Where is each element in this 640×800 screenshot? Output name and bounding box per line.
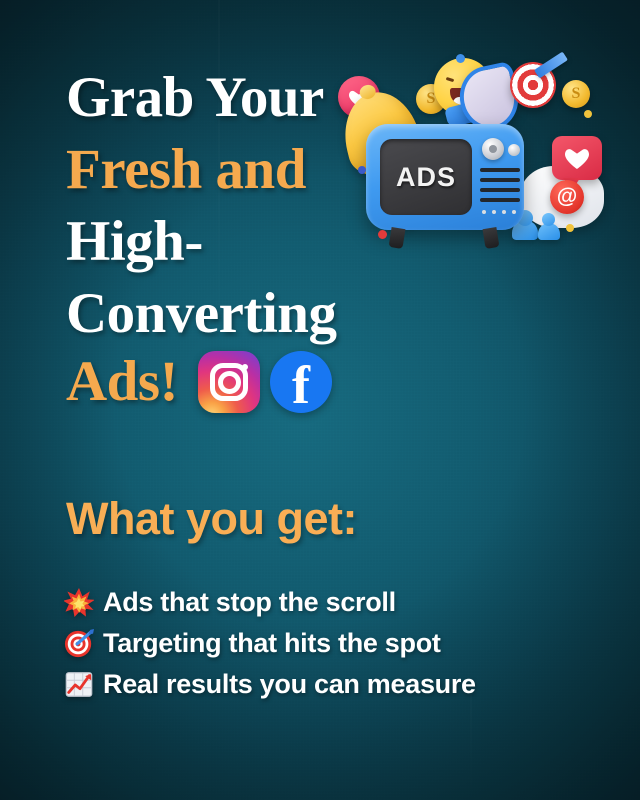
benefit-label: Ads that stop the scroll xyxy=(103,587,396,618)
confetti-dot xyxy=(456,54,465,63)
email-at-icon: @ xyxy=(550,180,584,214)
tv-ads-label: ADS xyxy=(396,162,456,193)
chart-increasing-icon xyxy=(64,669,94,699)
tv-indicator-dot xyxy=(482,210,486,214)
tv-small-knob-icon xyxy=(508,144,520,156)
subhead-what-you-get: What you get: xyxy=(66,493,357,545)
benefit-label: Real results you can measure xyxy=(103,669,476,700)
coin-symbol: S xyxy=(562,80,590,108)
confetti-dot xyxy=(566,224,574,232)
tv-leg xyxy=(483,227,500,249)
tv-indicator-dot xyxy=(492,210,496,214)
texture-streak xyxy=(470,690,472,800)
collision-burst-icon xyxy=(64,587,94,617)
tv-indicator-dot xyxy=(512,210,516,214)
tv-grille-line xyxy=(480,198,520,202)
benefit-item: Real results you can measure xyxy=(64,665,476,703)
tv-indicator-dot xyxy=(502,210,506,214)
headline-line-3: High- xyxy=(66,206,396,278)
headline-line-5: Ads! xyxy=(66,350,178,414)
benefit-item: Ads that stop the scroll xyxy=(64,583,476,621)
tv-gear-knob-icon xyxy=(482,138,504,160)
headline-line-4: Converting xyxy=(66,278,396,350)
facebook-icon[interactable]: f xyxy=(270,351,332,413)
heart-speech-bubble-icon xyxy=(552,136,602,180)
tv-grille-line xyxy=(480,188,520,192)
benefit-item: Targeting that hits the spot xyxy=(64,624,476,662)
person-head xyxy=(542,213,555,226)
headline-line-5-row: Ads! f xyxy=(66,350,396,414)
emoji-eye xyxy=(445,77,453,82)
social-icons-group: f xyxy=(198,351,332,413)
benefit-label: Targeting that hits the spot xyxy=(103,628,441,659)
coin-icon: S xyxy=(562,80,590,108)
facebook-glyph: f xyxy=(270,357,332,413)
tv-grille-line xyxy=(480,178,520,182)
direct-hit-target-icon xyxy=(64,628,94,658)
tv-grille-line xyxy=(480,168,520,172)
headline-block: Grab Your Fresh and High- Converting Ads… xyxy=(66,62,396,414)
benefits-list: Ads that stop the scroll Targeting that … xyxy=(64,583,476,706)
poster-canvas: S S @ xyxy=(0,0,640,800)
instagram-icon[interactable] xyxy=(198,351,260,413)
instagram-lens xyxy=(218,371,241,394)
headline-line-1: Grab Your xyxy=(66,62,396,134)
confetti-dot xyxy=(584,110,592,118)
headline-line-2: Fresh and xyxy=(66,134,396,206)
instagram-dot xyxy=(242,364,248,370)
